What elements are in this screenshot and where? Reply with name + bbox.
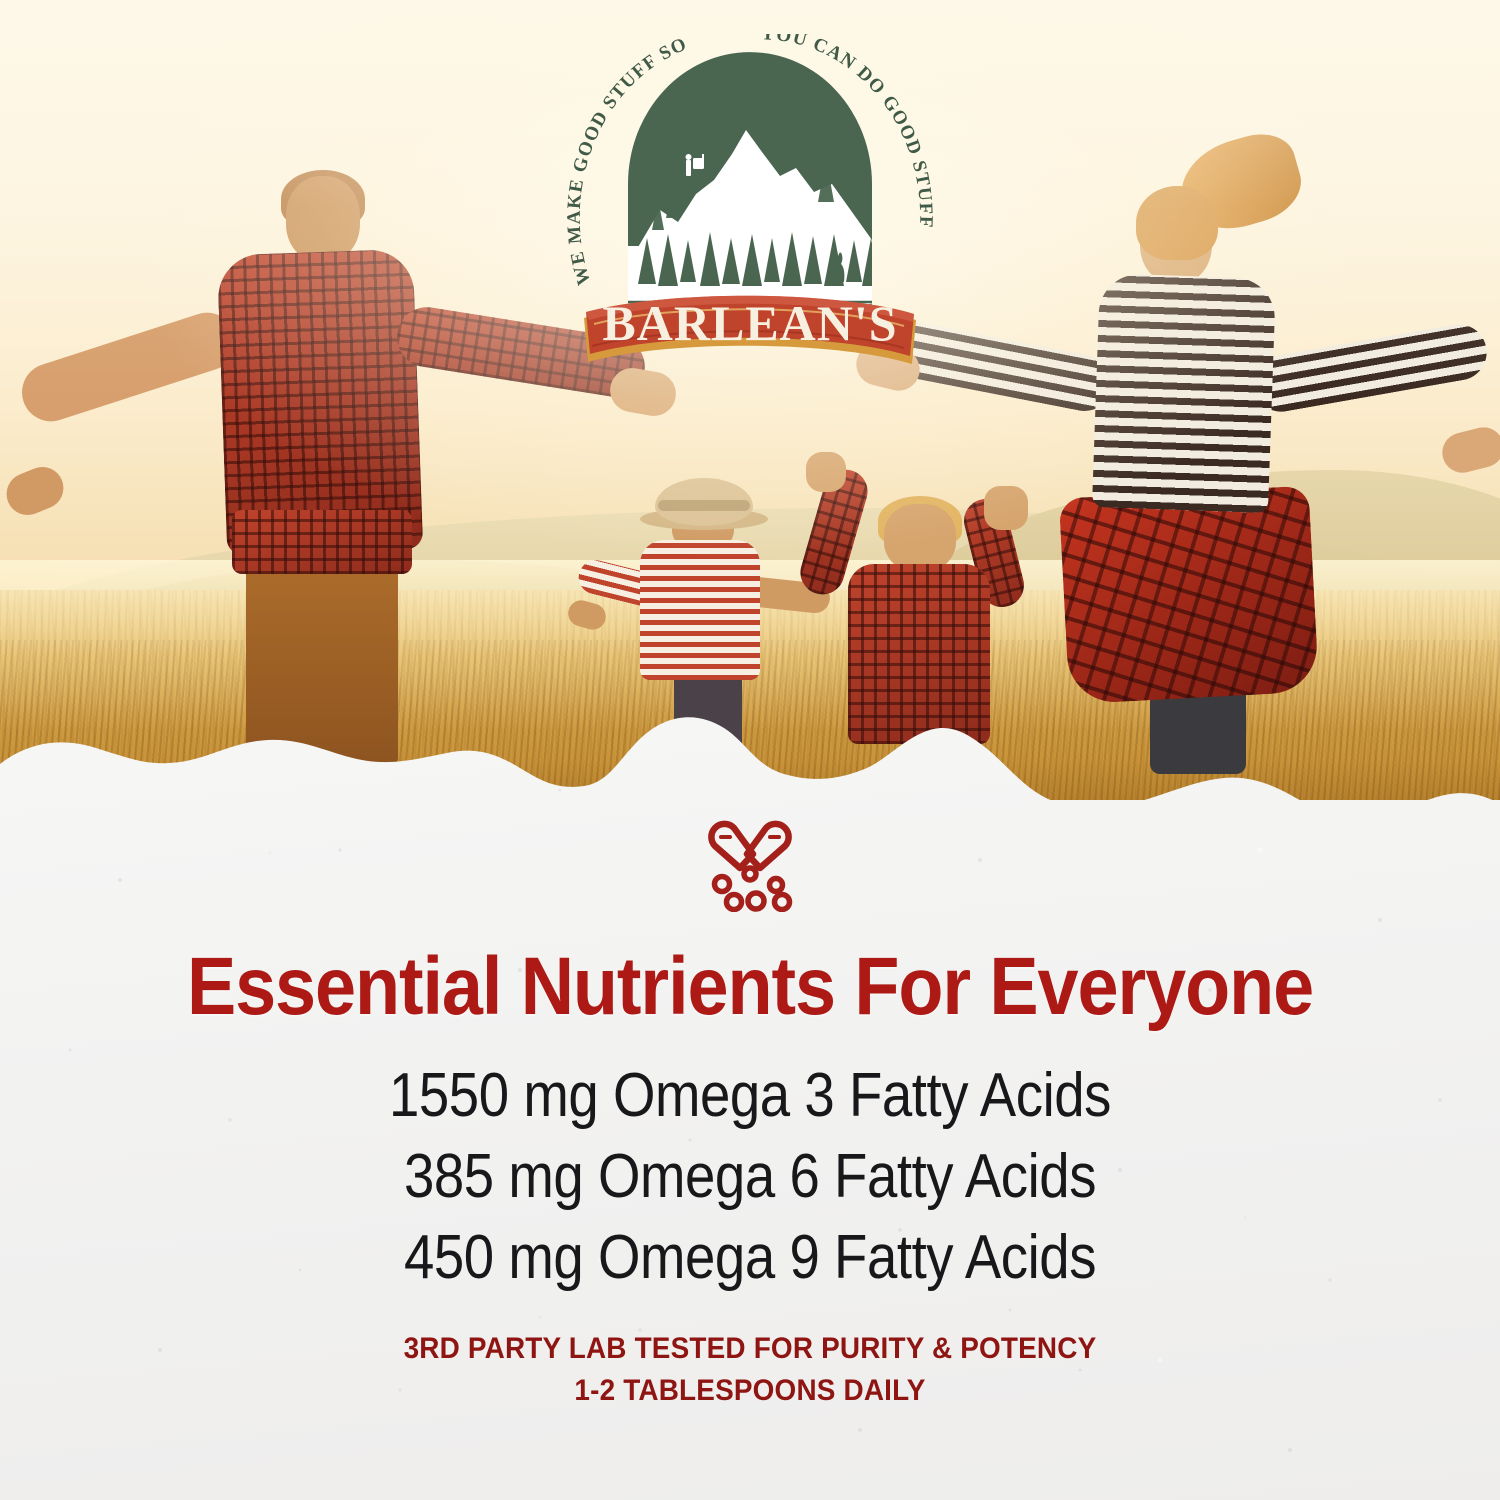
boy-hand-right [984, 486, 1028, 530]
boy-hand-left [806, 452, 846, 492]
logo-brand-name: BARLEAN'S [602, 295, 897, 351]
nutrient-fact-omega6: 385 mg Omega 6 Fatty Acids [90, 1136, 1410, 1217]
nutrient-fact-omega3: 1550 mg Omega 3 Fatty Acids [90, 1055, 1410, 1136]
footnote-dosage: 1-2 TABLESPOONS DAILY [53, 1370, 1448, 1412]
nutrient-facts-list: 1550 mg Omega 3 Fatty Acids 385 mg Omega… [0, 1055, 1500, 1298]
footnote-lab-tested: 3RD PARTY LAB TESTED FOR PURITY & POTENC… [53, 1328, 1448, 1370]
girl-striped-shirt [640, 540, 760, 680]
mother-striped-top [1092, 273, 1276, 513]
nutrient-fact-omega9: 450 mg Omega 9 Fatty Acids [90, 1217, 1410, 1298]
granule-dots [715, 868, 790, 910]
father-head [286, 176, 360, 262]
father-shirt-hem [232, 510, 412, 574]
mother-hair [1136, 186, 1218, 260]
product-marketing-image: WE MAKE GOOD STUFF SO YOU CAN DO GOOD ST… [0, 0, 1500, 1500]
girl-hat-band [658, 500, 750, 511]
logo-ribbon: BARLEAN'S [584, 295, 916, 364]
brand-logo: WE MAKE GOOD STUFF SO YOU CAN DO GOOD ST… [556, 34, 944, 384]
boy-head [884, 504, 956, 572]
footnotes: 3RD PARTY LAB TESTED FOR PURITY & POTENC… [0, 1328, 1500, 1412]
capsules-granules-icon [696, 812, 804, 912]
page-title: Essential Nutrients For Everyone [75, 940, 1425, 1034]
